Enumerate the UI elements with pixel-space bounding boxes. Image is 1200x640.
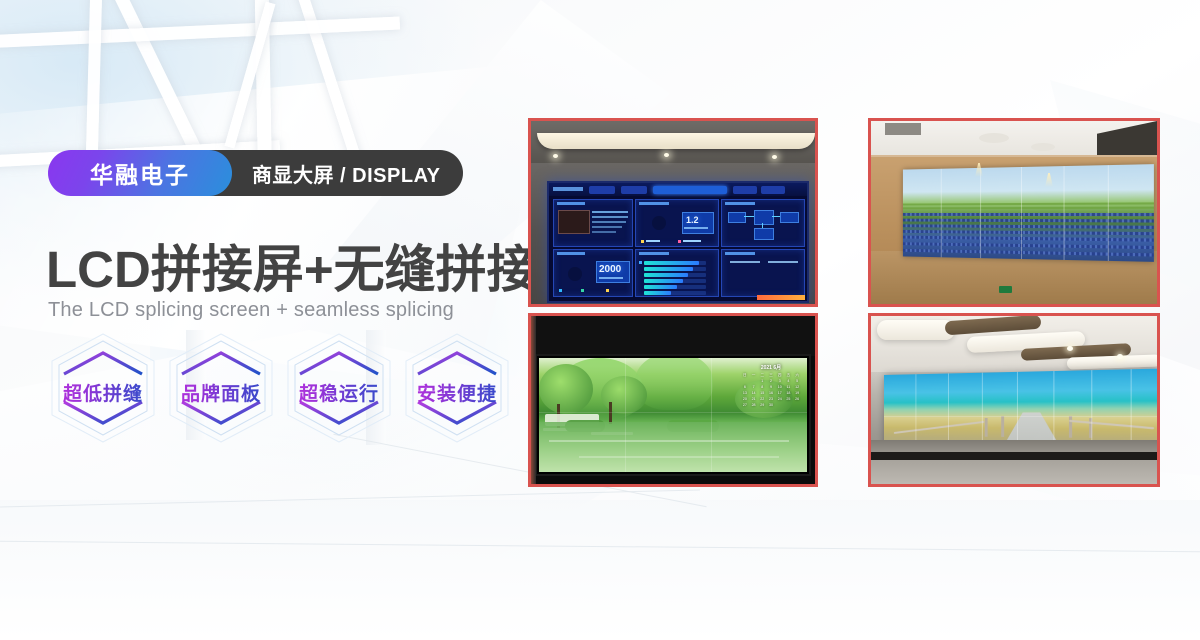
photo1-downlight-3 — [772, 155, 777, 159]
photo1-pie-chart — [734, 268, 756, 290]
photo1-flow-link — [744, 216, 754, 217]
calendar-day: 28 — [750, 403, 758, 408]
feature-label: 超稳运行 — [280, 379, 398, 406]
left-content-column: 商显大屏 / DISPLAY 华融电子 LCD拼接屏+无缝拼接 The LCD … — [44, 0, 544, 640]
calendar-day: 21 — [750, 397, 758, 402]
photo1-tab-active — [653, 186, 727, 194]
photo1-flow-node — [728, 212, 746, 223]
photo2-video-wall — [903, 164, 1154, 262]
calendar-day: 9 — [767, 385, 775, 390]
photo1-text-line — [592, 216, 628, 218]
calendar-weekday: 一 — [750, 373, 758, 378]
photo1-metric-label — [684, 227, 708, 229]
calendar-grid: 日 一 二 三 四 五 六 1 2 3 4 — [741, 373, 801, 408]
feature-item-3: 超稳运行 — [280, 332, 398, 444]
photo3-water-reflection — [549, 440, 789, 442]
calendar-day: 19 — [793, 391, 801, 396]
feature-item-2: 品牌面板 — [162, 332, 280, 444]
photo2-ceiling-vent — [885, 123, 921, 135]
brand-name-pill: 华融电子 — [48, 150, 232, 196]
feature-label: 安装便捷 — [398, 379, 516, 406]
photo1-panel-flow — [721, 199, 805, 247]
photo1-bar — [644, 261, 699, 265]
photo1-donut-chart — [560, 259, 590, 289]
photo1-legend-swatch — [559, 289, 562, 292]
photo1-bar — [644, 291, 671, 295]
calendar-day: 27 — [741, 403, 749, 408]
photo4-ceiling-coffer-1 — [877, 320, 955, 340]
photo1-panel-title — [557, 202, 585, 205]
gallery-photo-park-landscape[interactable]: 2021 6月 日 一 二 三 四 五 六 1 2 — [528, 313, 818, 487]
gallery-photo-solar-farm[interactable] — [868, 118, 1160, 307]
calendar-day: 10 — [776, 385, 784, 390]
photo1-panel-title — [725, 202, 755, 205]
photo1-tab-1 — [589, 186, 615, 194]
calendar-weekday: 日 — [741, 373, 749, 378]
calendar-day: 11 — [785, 385, 793, 390]
photo4-wall-base — [871, 452, 1157, 460]
photo3-trunk-2 — [609, 402, 612, 424]
calendar-day: 12 — [793, 385, 801, 390]
photo1-panel-area: 2000 — [553, 249, 633, 297]
calendar-day: 5 — [793, 379, 801, 384]
photo1-text-line — [592, 226, 622, 228]
calendar-day: 30 — [767, 403, 775, 408]
calendar-day: 3 — [776, 379, 784, 384]
photo3-willow-canopy-2 — [635, 358, 713, 410]
calendar-day: 24 — [776, 397, 784, 402]
photo1-tab-5 — [761, 186, 785, 194]
calendar-day: 20 — [741, 397, 749, 402]
brand-badge: 商显大屏 / DISPLAY 华融电子 — [48, 150, 232, 196]
photo1-timestamp — [553, 187, 583, 191]
photo1-legend-swatch — [678, 240, 681, 243]
photo1-metric-label — [599, 277, 623, 279]
photo1-bar — [644, 267, 693, 271]
photo1-text-line — [592, 231, 616, 233]
photo1-bar — [644, 285, 677, 289]
calendar-day: 29 — [758, 403, 766, 408]
photo1-metric-value: 2000 — [599, 264, 621, 275]
photo1-cove-light — [537, 133, 815, 149]
photo3-upper-bezel — [531, 316, 815, 356]
photo3-side-frame — [531, 316, 536, 484]
photo1-panel-title — [725, 252, 755, 255]
photo1-donut-chart — [644, 208, 674, 238]
photo3-screen-seam-horizontal — [539, 412, 807, 413]
photo1-bar — [644, 279, 683, 283]
photo1-thumb — [558, 210, 590, 234]
calendar-day: 7 — [750, 385, 758, 390]
photo1-pie-legend — [730, 261, 760, 263]
photo1-screen-watermark — [757, 295, 805, 300]
calendar-day: 15 — [758, 391, 766, 396]
photo3-tree-2 — [601, 376, 647, 414]
photo1-legend-label — [683, 240, 701, 242]
photo2-wood-seam — [871, 155, 1157, 157]
photo1-panel-intro — [553, 199, 633, 247]
photo4-screen-seam-horizontal — [884, 416, 1157, 417]
photo1-downlight-2 — [664, 153, 669, 157]
feature-label: 超低拼缝 — [44, 379, 162, 406]
photo1-legend-swatch — [581, 289, 584, 292]
photo1-tab-4 — [733, 186, 757, 194]
calendar-weekday: 四 — [776, 373, 784, 378]
photo1-pie-chart — [770, 268, 792, 290]
photo4-downlight-2 — [1117, 354, 1123, 359]
feature-list: 超低拼缝 品牌面板 — [44, 332, 516, 444]
photo1-panel-title — [557, 252, 585, 255]
photo2-ceiling-light-1 — [979, 133, 1009, 143]
gallery-photo-beach-boardwalk[interactable] — [868, 313, 1160, 487]
photo1-text-line — [592, 211, 628, 213]
photo1-panel-bars — [635, 249, 719, 297]
photo4-downlight-1 — [1067, 346, 1073, 351]
photo1-panel-title — [639, 202, 669, 205]
feature-item-1: 超低拼缝 — [44, 332, 162, 444]
calendar-weekday: 三 — [767, 373, 775, 378]
calendar-day — [750, 379, 758, 384]
calendar-day: 16 — [767, 391, 775, 396]
photo2-exit-sign — [999, 286, 1012, 293]
photo1-metric-value: 1.2 — [686, 215, 699, 225]
calendar-title: 2021 6月 — [741, 364, 801, 371]
photo1-legend-swatch — [641, 240, 644, 243]
calendar-day: 14 — [750, 391, 758, 396]
calendar-weekday: 五 — [785, 373, 793, 378]
calendar-day: 18 — [785, 391, 793, 396]
calendar-day: 22 — [758, 397, 766, 402]
calendar-day — [741, 379, 749, 384]
calendar-day: 26 — [793, 397, 801, 402]
photo1-flow-link — [772, 216, 780, 217]
gallery-photo-dashboard[interactable]: 1.2 — [528, 118, 818, 307]
feature-label: 品牌面板 — [162, 379, 280, 406]
calendar-day: 13 — [741, 391, 749, 396]
photo1-legend-swatch — [606, 289, 609, 292]
photo1-downlight-1 — [553, 154, 558, 158]
photo1-bar — [644, 273, 688, 277]
calendar-weekday: 二 — [758, 373, 766, 378]
photo3-tree-1 — [539, 364, 593, 414]
photo1-flow-node — [754, 228, 774, 240]
photo1-flow-link — [762, 223, 763, 228]
photo1-flow-node — [780, 212, 799, 223]
photo1-panel-title — [639, 252, 669, 255]
calendar-day: 23 — [767, 397, 775, 402]
photo3-video-wall-bezel: 2021 6月 日 一 二 三 四 五 六 1 2 — [535, 354, 811, 476]
calendar-day: 2 — [767, 379, 775, 384]
photo1-panel-resources: 1.2 — [635, 199, 719, 247]
calendar-day: 17 — [776, 391, 784, 396]
photo1-text-line — [592, 221, 626, 223]
banner-stage: 商显大屏 / DISPLAY 华融电子 LCD拼接屏+无缝拼接 The LCD … — [0, 0, 1200, 640]
photo3-water-reflection — [579, 456, 779, 458]
calendar-day: 1 — [758, 379, 766, 384]
page-subtitle: The LCD splicing screen + seamless splic… — [48, 299, 454, 322]
photo3-water — [539, 422, 807, 472]
photo1-legend-label — [646, 240, 660, 242]
photo1-tab-2 — [621, 186, 647, 194]
photo1-panel-pies — [721, 249, 805, 297]
photo1-pie-legend — [768, 261, 798, 263]
photo2-ceiling-light-2 — [1031, 143, 1055, 151]
calendar-day: 8 — [758, 385, 766, 390]
page-title: LCD拼接屏+无缝拼接 — [46, 228, 538, 302]
calendar-day: 25 — [785, 397, 793, 402]
photo3-screen-content: 2021 6月 日 一 二 三 四 五 六 1 2 — [539, 358, 807, 472]
feature-item-4: 安装便捷 — [398, 332, 516, 444]
photo4-floor — [871, 440, 1157, 484]
calendar-weekday: 六 — [793, 373, 801, 378]
photo1-flow-node — [754, 210, 774, 225]
calendar-day: 6 — [741, 385, 749, 390]
photo1-bar-marker — [639, 261, 642, 264]
calendar-day: 4 — [785, 379, 793, 384]
photo1-video-wall: 1.2 — [547, 181, 809, 303]
photo3-calendar-overlay: 2021 6月 日 一 二 三 四 五 六 1 2 — [741, 364, 801, 416]
